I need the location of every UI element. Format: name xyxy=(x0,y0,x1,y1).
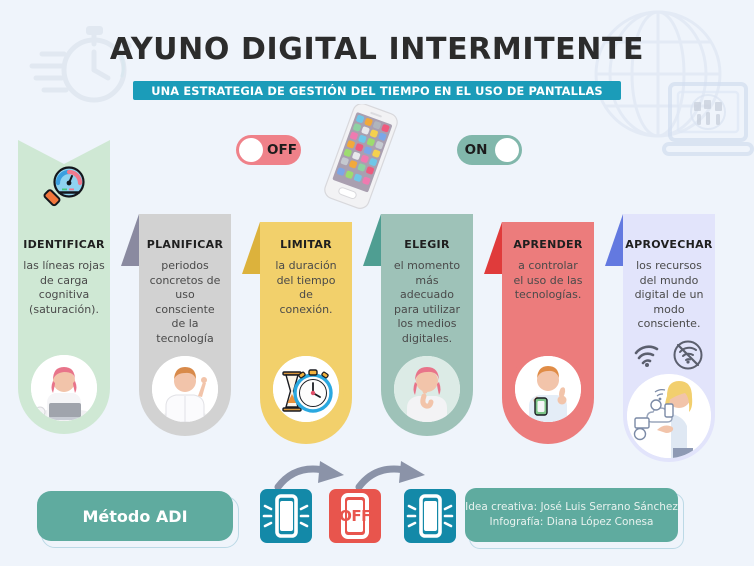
magnifier-gauge-icon xyxy=(41,163,89,211)
phone-on-tile-right[interactable] xyxy=(404,489,456,543)
wifi-on-icon xyxy=(632,342,662,368)
step-column-elegir[interactable]: ELEGIR el momento más adecuado para util… xyxy=(381,214,473,436)
toggle-off-knob xyxy=(239,138,263,162)
credits-badge: Idea creativa: José Luis Serrano Sánchez… xyxy=(465,488,678,542)
phone-off-tile[interactable]: OFF xyxy=(329,489,381,543)
toggle-off[interactable]: OFF xyxy=(236,135,301,165)
step-description: el momento más adecuado para utilizar lo… xyxy=(381,259,473,346)
smartphone-illustration xyxy=(316,104,406,209)
laptop-watermark-icon xyxy=(660,78,754,164)
step-description: periodos concretos de uso consciente de … xyxy=(139,259,231,346)
credit-line-infografia: Infografía: Diana López Conesa xyxy=(490,515,654,530)
step-column-aprender[interactable]: APRENDER a controlar el uso de las tecno… xyxy=(502,222,594,444)
step-fold xyxy=(121,214,139,266)
subtitle-text: UNA ESTRATEGIA DE GESTIÓN DEL TIEMPO EN … xyxy=(151,84,603,98)
step-column-planificar[interactable]: PLANIFICAR periodos concretos de uso con… xyxy=(139,214,231,436)
step-fold xyxy=(363,214,381,266)
step-photo xyxy=(394,356,460,422)
step-title: LIMITAR xyxy=(260,238,352,251)
page-title: AYUNO DIGITAL INTERMITENTE xyxy=(0,32,754,67)
subtitle-band: UNA ESTRATEGIA DE GESTIÓN DEL TIEMPO EN … xyxy=(133,81,621,100)
wifi-off-icon xyxy=(672,340,704,370)
step-fold xyxy=(484,222,502,274)
step-photo xyxy=(31,355,97,421)
step-column-aprovechar[interactable]: APROVECHAR los recursos del mundo digita… xyxy=(623,214,715,462)
toggle-on-label: ON xyxy=(457,142,495,158)
step-description: a controlar el uso de las tecnologías. xyxy=(502,259,594,303)
toggle-off-label: OFF xyxy=(263,142,301,158)
step-title: ELEGIR xyxy=(381,238,473,251)
toggle-on[interactable]: ON xyxy=(457,135,522,165)
step-column-identificar[interactable]: IDENTIFICAR las líneas rojas de carga co… xyxy=(18,140,110,435)
step-description: las líneas rojas de carga cognitiva (sat… xyxy=(18,259,110,317)
step-column-limitar[interactable]: LIMITAR la duración del tiempo de conexi… xyxy=(260,222,352,444)
step-photo xyxy=(627,374,711,458)
step-title: IDENTIFICAR xyxy=(18,238,110,251)
step-title: PLANIFICAR xyxy=(139,238,231,251)
phone-on-tile-left[interactable] xyxy=(260,489,312,543)
step-title: APROVECHAR xyxy=(623,238,715,251)
step-photo xyxy=(515,356,581,422)
toggle-on-knob xyxy=(495,138,519,162)
step-fold xyxy=(605,214,623,266)
step-photo xyxy=(152,356,218,422)
method-label: Método ADI xyxy=(82,507,187,526)
infographic-canvas: AYUNO DIGITAL INTERMITENTE UNA ESTRATEGI… xyxy=(0,0,754,566)
credit-line-idea: Idea creativa: José Luis Serrano Sánchez xyxy=(465,500,678,515)
step-photo xyxy=(273,356,339,422)
method-badge[interactable]: Método ADI xyxy=(37,491,233,541)
step-description: la duración del tiempo de conexión. xyxy=(260,259,352,317)
step-description: los recursos del mundo digital de un mod… xyxy=(623,259,715,332)
step-title: APRENDER xyxy=(502,238,594,251)
step-fold xyxy=(242,222,260,274)
phone-off-label: OFF xyxy=(329,489,381,543)
